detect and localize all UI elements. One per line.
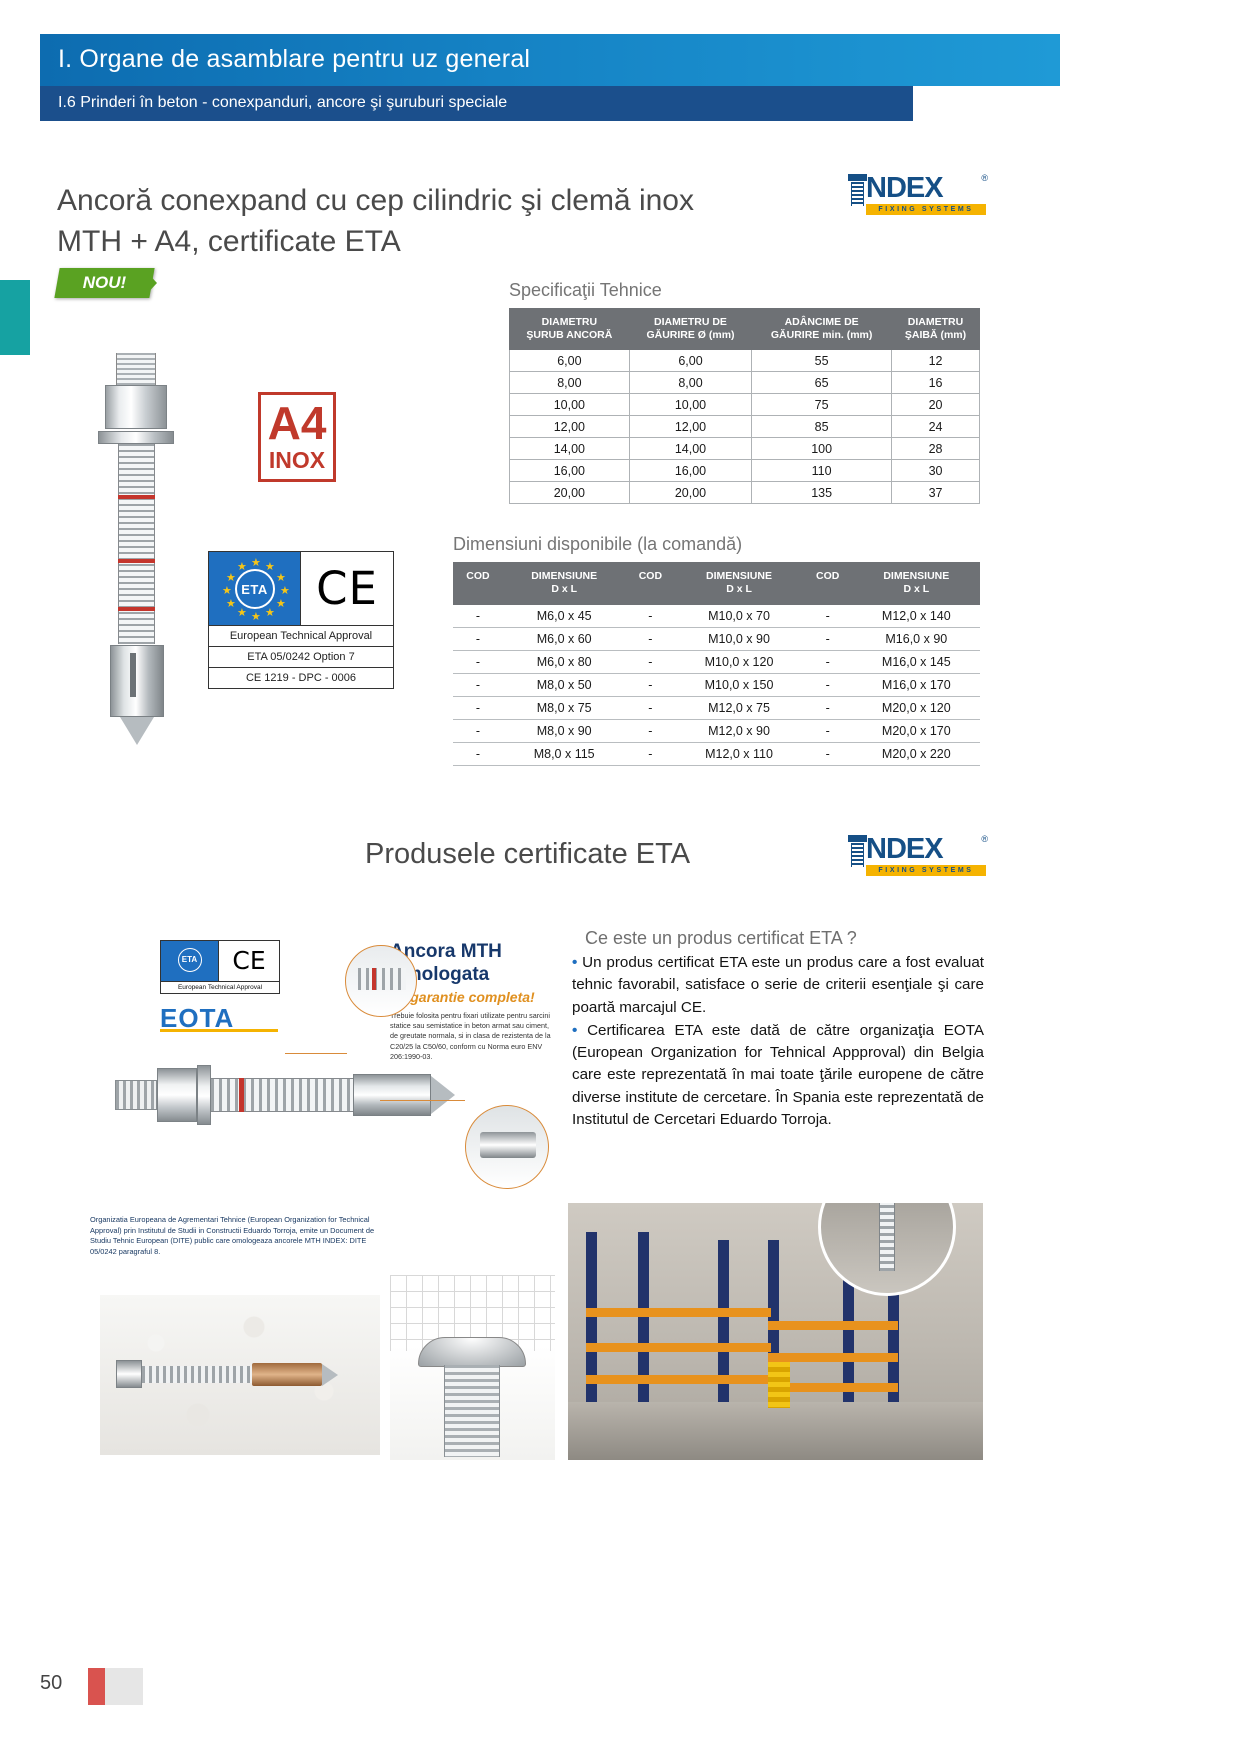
spec-cell-2: 55: [752, 350, 892, 372]
brand-tagline: FIXING SYSTEMS: [866, 865, 986, 876]
spec-cell-3: 24: [892, 416, 980, 438]
dim-cell-5: M16,0 x 170: [853, 674, 980, 697]
bolt-icon: [848, 835, 867, 867]
brand-tagline: FIXING SYSTEMS: [866, 204, 986, 215]
bolt-hex-nut: [105, 385, 167, 429]
diagram-washer: [197, 1065, 211, 1125]
bolt-sleeve-slot: [130, 653, 136, 697]
spec-table: DIAMETRUŞURUB ANCORĂDIAMETRU DEGĂURIRE Ø…: [509, 308, 980, 504]
anchor-head-dome: [418, 1337, 526, 1367]
dim-cell-5: M20,0 x 120: [853, 697, 980, 720]
dim-cell-0: -: [453, 605, 503, 628]
dim-col-header-3: DIMENSIUNED x L: [675, 562, 802, 605]
column-guard: [768, 1362, 790, 1408]
teal-side-tab: [0, 280, 30, 355]
bolt-red-mark-1: [118, 495, 155, 499]
callout-leader-line-2: [380, 1100, 465, 1101]
dim-cell-3: M10,0 x 70: [675, 605, 802, 628]
spec-cell-1: 8,00: [629, 372, 752, 394]
callout-detail-shaft: [345, 945, 417, 1017]
photo-warehouse-racking: [568, 1203, 983, 1460]
spec-cell-3: 12: [892, 350, 980, 372]
spec-cell-1: 10,00: [629, 394, 752, 416]
spec-cell-3: 30: [892, 460, 980, 482]
dim-cell-2: -: [625, 628, 675, 651]
dim-cell-2: -: [625, 697, 675, 720]
eta-description-body: • Un produs certificat ETA este un produ…: [572, 952, 984, 1132]
mth-footnote: Organizatia Europeana de Agrementari Teh…: [90, 1215, 390, 1257]
dim-cell-4: -: [803, 674, 853, 697]
mth-anchor-diagram: [115, 1060, 455, 1130]
dim-cell-1: M6,0 x 45: [503, 605, 625, 628]
eta-circle-label: ETA: [235, 569, 275, 609]
spec-cell-1: 12,00: [629, 416, 752, 438]
dim-cell-4: -: [803, 628, 853, 651]
table-row: -M8,0 x 90-M12,0 x 90-M20,0 x 170: [453, 720, 980, 743]
callout-detail-sleeve: [465, 1105, 549, 1189]
anchor-detail-callout: [818, 1203, 956, 1296]
diagram-expansion-sleeve: [353, 1074, 431, 1116]
eta-number-label: ETA 05/0242 Option 7: [209, 647, 393, 668]
eta-flag-icon-small: ETA: [161, 941, 219, 981]
table-row: 16,0016,0011030: [510, 460, 980, 482]
spec-table-caption: Specificaţii Tehnice: [509, 280, 980, 301]
footer-accent-red: [88, 1668, 105, 1705]
spec-table-header-row: DIAMETRUŞURUB ANCORĂDIAMETRU DEGĂURIRE Ø…: [510, 309, 980, 350]
certification-block: ★ ★ ★ ★ ★ ★ ★ ★ ★ ★ ★ ★ ETA CE European …: [208, 551, 394, 689]
spec-col-header-2: ADÂNCIME DEGĂURIRE min. (mm): [752, 309, 892, 350]
ce-number-label: CE 1219 - DPC - 0006: [209, 668, 393, 689]
spec-cell-0: 14,00: [510, 438, 630, 460]
dim-cell-1: M8,0 x 50: [503, 674, 625, 697]
dim-col-header-1: DIMENSIUNED x L: [503, 562, 625, 605]
new-product-badge: NOU!: [54, 268, 154, 298]
spec-col-header-1: DIAMETRU DEGĂURIRE Ø (mm): [629, 309, 752, 350]
dim-cell-5: M20,0 x 170: [853, 720, 980, 743]
eota-underline: [160, 1029, 278, 1032]
mini-certification-logo: ETA CE: [160, 940, 280, 982]
dim-col-header-2: COD: [625, 562, 675, 605]
dim-cell-3: M12,0 x 110: [675, 743, 802, 766]
spec-cell-2: 85: [752, 416, 892, 438]
diagram-left-thread: [115, 1080, 157, 1110]
spec-col-header-3: DIAMETRUŞAIBĂ (mm): [892, 309, 980, 350]
dim-cell-2: -: [625, 720, 675, 743]
dim-cell-3: M10,0 x 120: [675, 651, 802, 674]
diagram-hex-nut: [157, 1068, 197, 1122]
section-title: I.6 Prinderi în beton - conexpanduri, an…: [40, 86, 913, 112]
spec-cell-0: 10,00: [510, 394, 630, 416]
spec-cell-0: 12,00: [510, 416, 630, 438]
diagram-shaft: [211, 1078, 353, 1112]
anchor-head-shaft: [444, 1365, 500, 1457]
dim-cell-2: -: [625, 651, 675, 674]
dim-cell-4: -: [803, 720, 853, 743]
dim-cell-0: -: [453, 651, 503, 674]
product-title-line1: Ancoră conexpand cu cep cilindric şi cle…: [57, 180, 817, 221]
dim-cell-2: -: [625, 743, 675, 766]
dim-cell-0: -: [453, 743, 503, 766]
diagram-red-mark: [239, 1078, 244, 1112]
new-badge-arrow-icon: [143, 268, 157, 298]
spec-cell-0: 6,00: [510, 350, 630, 372]
spec-cell-0: 8,00: [510, 372, 630, 394]
spec-cell-2: 110: [752, 460, 892, 482]
spec-cell-1: 6,00: [629, 350, 752, 372]
dim-cell-1: M8,0 x 115: [503, 743, 625, 766]
photo-anchor-in-concrete: [100, 1295, 380, 1455]
dim-cell-0: -: [453, 697, 503, 720]
spec-cell-2: 75: [752, 394, 892, 416]
eta-section-title: Produsele certificate ETA: [365, 838, 690, 871]
dim-cell-4: -: [803, 743, 853, 766]
dim-cell-3: M12,0 x 90: [675, 720, 802, 743]
a4-inox-material-badge: A4 INOX: [258, 392, 336, 482]
dim-col-header-0: COD: [453, 562, 503, 605]
warehouse-floor: [568, 1402, 983, 1460]
bolt-shaft: [118, 444, 155, 644]
dim-cell-1: M6,0 x 60: [503, 628, 625, 651]
dim-cell-3: M12,0 x 75: [675, 697, 802, 720]
a4-label: A4: [261, 395, 333, 447]
table-row: -M8,0 x 50-M10,0 x 150-M16,0 x 170: [453, 674, 980, 697]
bullet-icon: •: [572, 954, 577, 971]
spec-cell-0: 16,00: [510, 460, 630, 482]
table-row: 6,006,005512: [510, 350, 980, 372]
spec-cell-2: 135: [752, 482, 892, 504]
mth-diagram-panel: ETA CE European Technical Approval EOTA …: [60, 925, 570, 1255]
technical-specifications-section: Specificaţii Tehnice DIAMETRUŞURUB ANCOR…: [509, 280, 980, 504]
dim-col-header-4: COD: [803, 562, 853, 605]
eta-bullet-2: • Certificarea ETA este dată de către or…: [572, 1020, 984, 1131]
chapter-title: I. Organe de asamblare pentru uz general: [40, 34, 1060, 74]
spec-cell-0: 20,00: [510, 482, 630, 504]
bolt-red-mark-2: [118, 559, 155, 563]
table-row: -M8,0 x 75-M12,0 x 75-M20,0 x 120: [453, 697, 980, 720]
mth-paragraph: Trebuie folosita pentru fixari utilizate…: [390, 1011, 555, 1062]
diagram-cone-tip: [431, 1076, 455, 1114]
dim-cell-0: -: [453, 720, 503, 743]
available-dimensions-section: Dimensiuni disponibile (la comandă) COD …: [453, 534, 980, 766]
bolt-icon: [848, 174, 867, 206]
eta-bullet-2-text: Certificarea ETA este dată de către orga…: [572, 1022, 984, 1128]
table-row: 20,0020,0013537: [510, 482, 980, 504]
spec-cell-1: 14,00: [629, 438, 752, 460]
callout-leader-line-1: [285, 1053, 347, 1054]
bolt-expansion-sleeve: [110, 645, 164, 717]
bolt-top-thread: [116, 353, 156, 387]
ce-mark-icon-small: CE: [219, 941, 279, 981]
table-row: -M6,0 x 60-M10,0 x 90-M16,0 x 90: [453, 628, 980, 651]
spec-cell-3: 28: [892, 438, 980, 460]
index-brand-logo-top: NDEX ® FIXING SYSTEMS: [848, 172, 988, 218]
dim-cell-1: M6,0 x 80: [503, 651, 625, 674]
table-row: 12,0012,008524: [510, 416, 980, 438]
spec-cell-3: 16: [892, 372, 980, 394]
registered-mark: ®: [981, 173, 988, 183]
table-row: -M8,0 x 115-M12,0 x 110-M20,0 x 220: [453, 743, 980, 766]
footer-accent-grey: [105, 1668, 143, 1705]
photo-anchor-head-detail: [390, 1275, 555, 1460]
dim-cell-1: M8,0 x 75: [503, 697, 625, 720]
inox-label: INOX: [261, 447, 333, 473]
european-technical-approval-label: European Technical Approval: [209, 626, 393, 647]
dim-cell-5: M16,0 x 90: [853, 628, 980, 651]
table-row: 10,0010,007520: [510, 394, 980, 416]
eta-question-heading: Ce este un produs certificat ETA ?: [585, 928, 857, 949]
index-brand-logo-mid: NDEX ® FIXING SYSTEMS: [848, 833, 988, 879]
brand-wordmark: NDEX: [866, 172, 943, 205]
table-row: 8,008,006516: [510, 372, 980, 394]
page-title: Ancoră conexpand cu cep cilindric şi cle…: [57, 180, 817, 262]
chapter-header-band: I. Organe de asamblare pentru uz general: [40, 34, 1060, 86]
eta-bullet-1: • Un produs certificat ETA este un produ…: [572, 952, 984, 1019]
dim-cell-3: M10,0 x 90: [675, 628, 802, 651]
dim-cell-5: M12,0 x 140: [853, 605, 980, 628]
dim-cell-2: -: [625, 674, 675, 697]
spec-cell-3: 37: [892, 482, 980, 504]
dim-cell-4: -: [803, 651, 853, 674]
dim-cell-1: M8,0 x 90: [503, 720, 625, 743]
eta-bullet-1-text: Un produs certificat ETA este un produs …: [572, 954, 984, 1016]
dimensions-table: COD DIMENSIUNED x LCOD DIMENSIUNED x LCO…: [453, 562, 980, 766]
spec-cell-2: 65: [752, 372, 892, 394]
brand-wordmark: NDEX: [866, 833, 943, 866]
dim-table-header-row: COD DIMENSIUNED x LCOD DIMENSIUNED x LCO…: [453, 562, 980, 605]
spec-cell-1: 20,00: [629, 482, 752, 504]
spec-cell-3: 20: [892, 394, 980, 416]
dim-cell-4: -: [803, 605, 853, 628]
table-row: 14,0014,0010028: [510, 438, 980, 460]
anchor-bolt-illustration: [80, 345, 195, 740]
dim-cell-0: -: [453, 674, 503, 697]
bullet-icon: •: [572, 1022, 577, 1039]
section-header-band: I.6 Prinderi în beton - conexpanduri, an…: [40, 86, 913, 121]
certification-logos-row: ★ ★ ★ ★ ★ ★ ★ ★ ★ ★ ★ ★ ETA CE: [209, 552, 393, 626]
registered-mark: ®: [981, 834, 988, 844]
product-title-line2: MTH + A4, certificate ETA: [57, 221, 817, 262]
dim-cell-5: M16,0 x 145: [853, 651, 980, 674]
table-row: -M6,0 x 45-M10,0 x 70-M12,0 x 140: [453, 605, 980, 628]
dim-cell-0: -: [453, 628, 503, 651]
ce-mark-icon: CE: [301, 552, 393, 625]
dim-cell-3: M10,0 x 150: [675, 674, 802, 697]
dim-table-caption: Dimensiuni disponibile (la comandă): [453, 534, 980, 555]
spec-cell-1: 16,00: [629, 460, 752, 482]
dim-cell-4: -: [803, 697, 853, 720]
bolt-red-mark-3: [118, 607, 155, 611]
page-number: 50: [40, 1672, 62, 1695]
dim-cell-5: M20,0 x 220: [853, 743, 980, 766]
dim-col-header-5: DIMENSIUNED x L: [853, 562, 980, 605]
eta-circle-label-small: ETA: [178, 948, 202, 972]
installed-anchor: [879, 1203, 895, 1271]
concrete-anchor-illustration: [116, 1357, 352, 1391]
bolt-washer: [98, 431, 174, 444]
spec-cell-2: 100: [752, 438, 892, 460]
table-row: -M6,0 x 80-M10,0 x 120-M16,0 x 145: [453, 651, 980, 674]
spec-col-header-0: DIAMETRUŞURUB ANCORĂ: [510, 309, 630, 350]
eta-flag-icon: ★ ★ ★ ★ ★ ★ ★ ★ ★ ★ ★ ★ ETA: [209, 552, 301, 625]
dim-cell-2: -: [625, 605, 675, 628]
mini-ce-caption: European Technical Approval: [160, 982, 280, 994]
bolt-cone-tip: [120, 717, 154, 745]
new-badge-label: NOU!: [57, 268, 152, 298]
